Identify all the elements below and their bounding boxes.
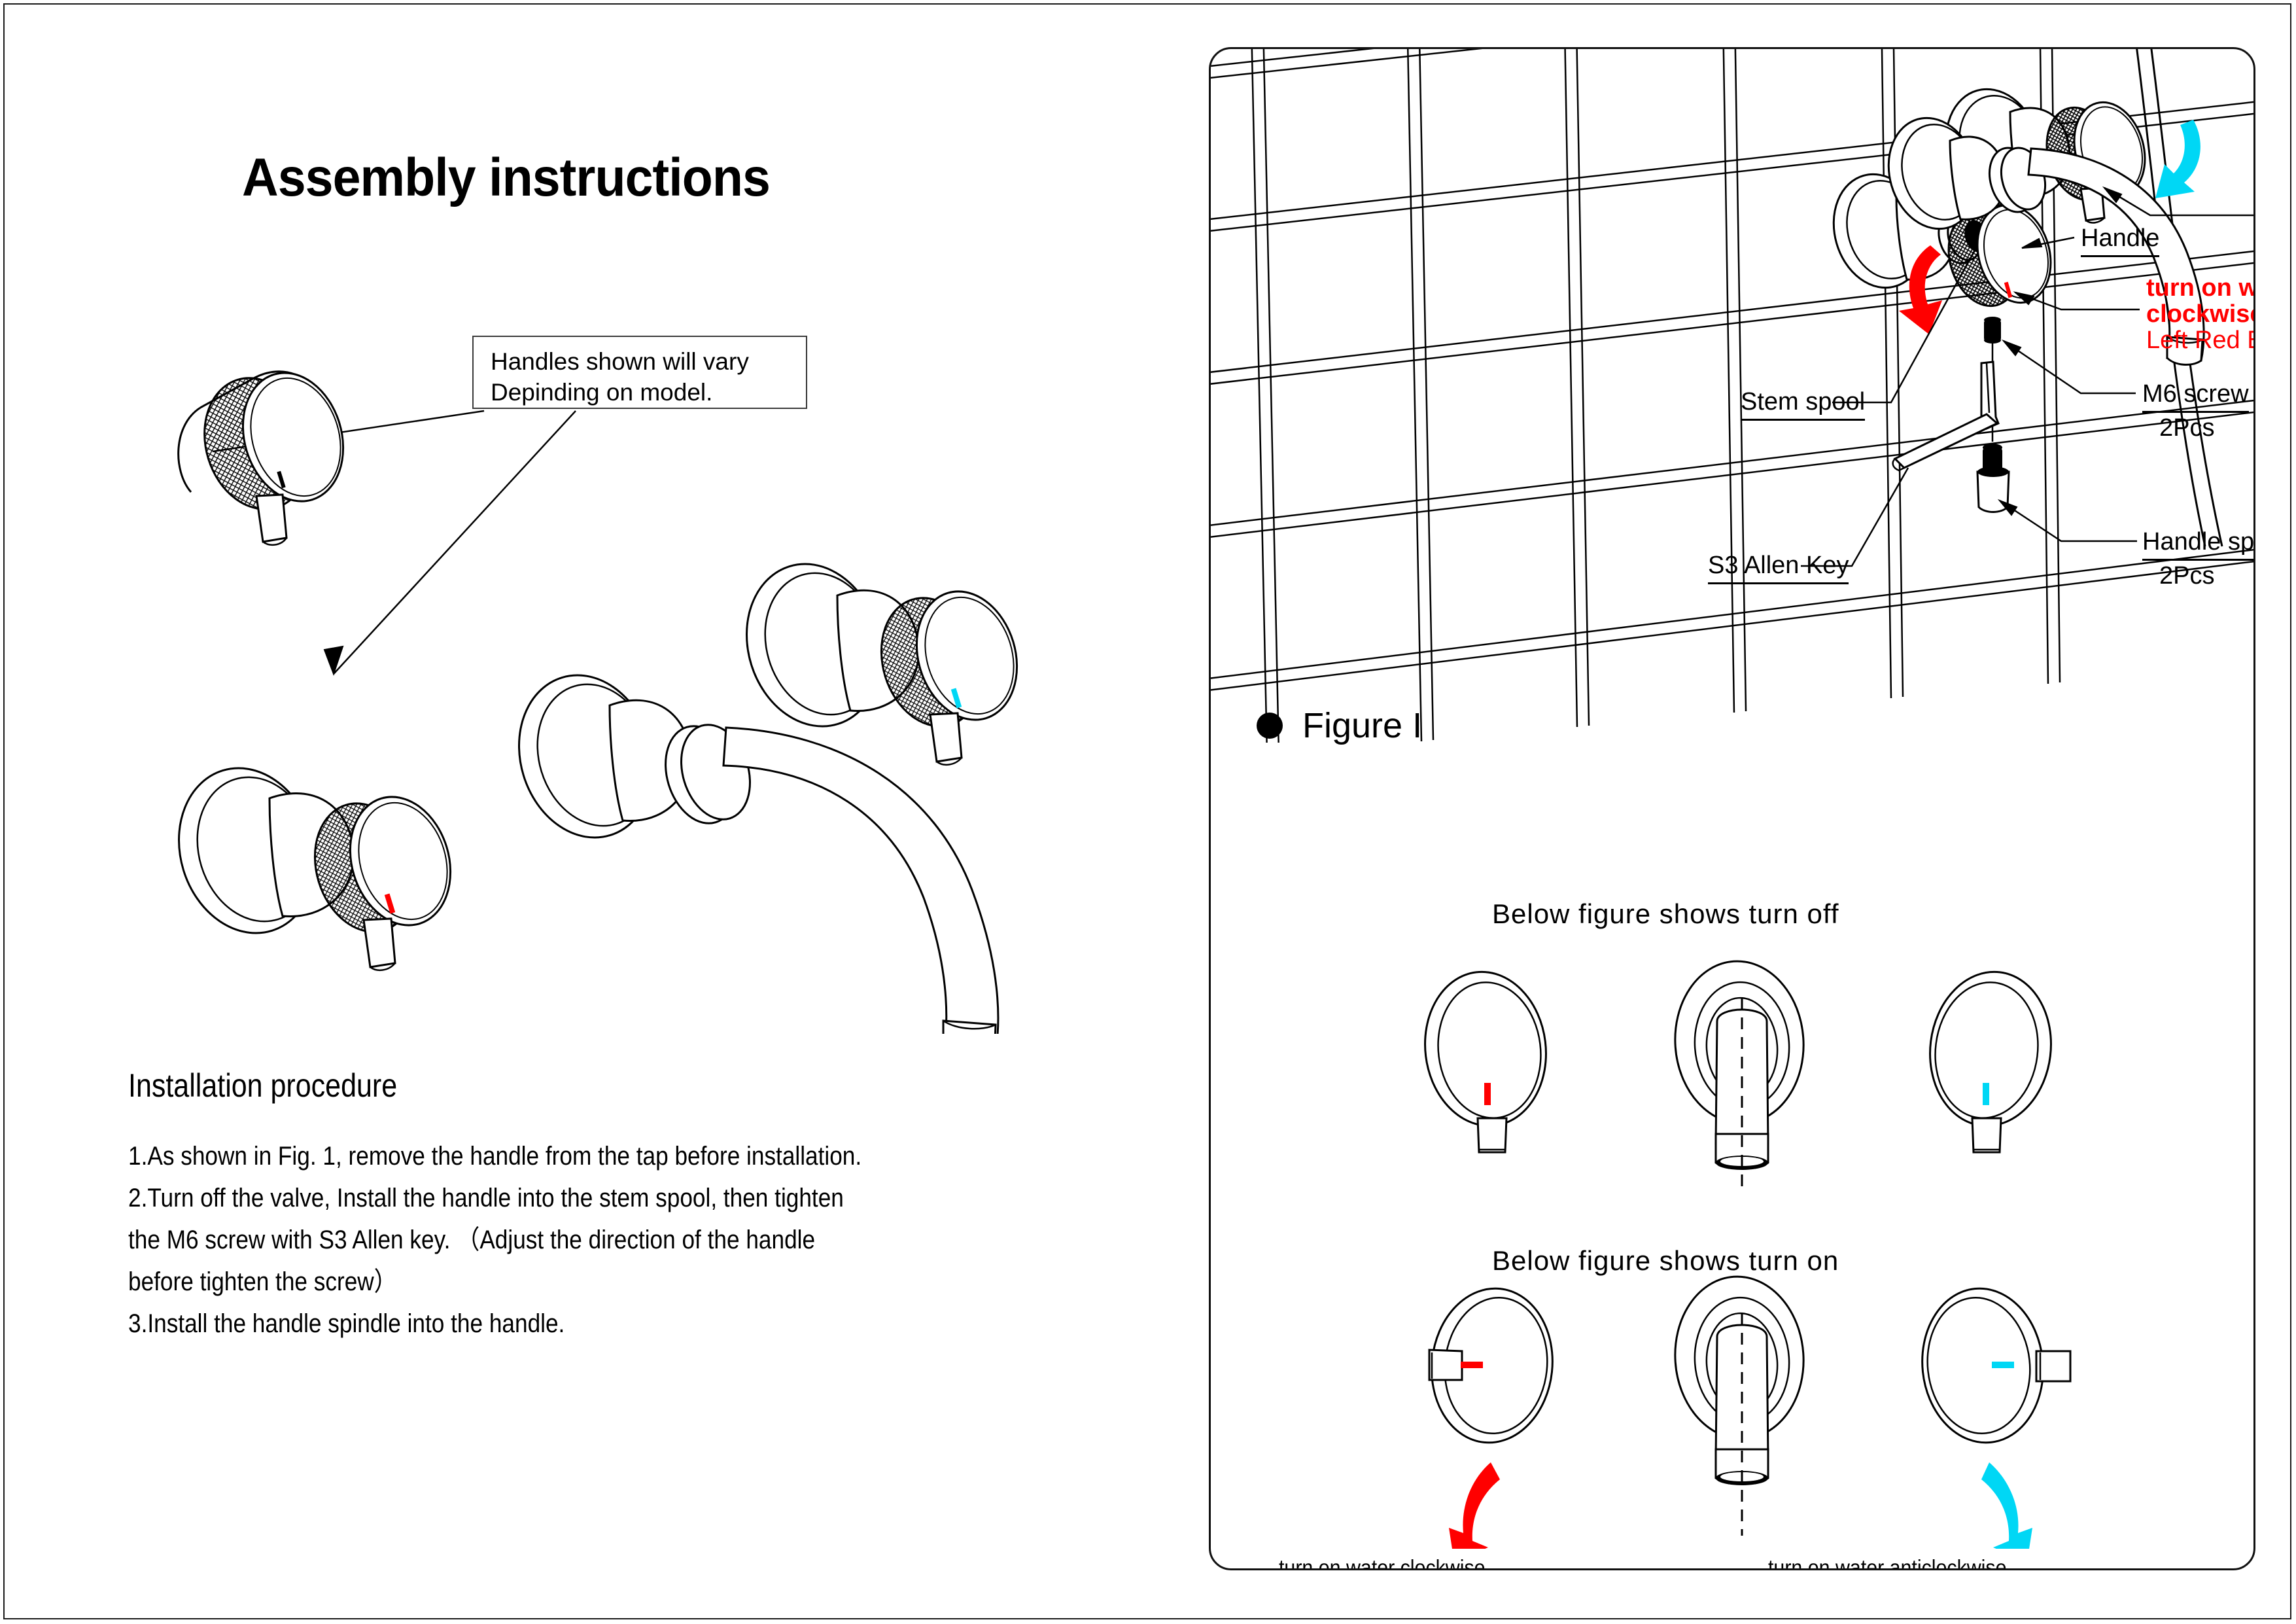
turn-on-right-caption: turn on water anticlockwise [1768,1555,2006,1570]
procedure-step-2c: before tighten the screw） [128,1261,992,1303]
left-valve-assembly [159,751,466,970]
faucet-exploded-illustration [118,366,1073,1034]
procedure-step-2b: the M6 screw with S3 Allen key. （Adjust … [128,1219,992,1261]
label-stem-spool: Stem spool [1741,388,1865,421]
page-title: Assembly instructions [242,147,770,209]
figure-one-scene [1211,49,2255,743]
procedure-step-1: 1.As shown in Fig. 1, remove the handle … [128,1135,992,1177]
m6-screw [1984,317,2001,344]
turn-on-left-arrow [1449,1462,1500,1549]
spout-on-centre [1670,1274,1809,1536]
knob-off-left-badge [1484,1083,1491,1105]
knob-on-left [1424,1282,1560,1449]
knob-on-left-badge [1461,1362,1483,1368]
spout-off-centre [1670,959,1809,1193]
label-handle-spindle: Handle spindle [2142,528,2255,561]
s3-allen-key [1893,362,1998,470]
knob-off-right-badge [1983,1083,1989,1105]
turn-off-heading: Below figure shows turn off [1492,898,1839,930]
turn-on-knobs [1407,1274,2074,1549]
label-turn-on-clockwise-1: turn on water [2146,274,2255,302]
knob-on-right [1915,1282,2070,1449]
knob-off-left [1416,965,1554,1152]
knob-on-right-badge [1992,1362,2014,1368]
figure-caption: Figure I [1257,705,1422,746]
figure-panel: Handle Stem spool S3 Allen Key M6 screw … [1209,47,2255,1570]
label-m6-screw: M6 screw [2142,380,2249,413]
detached-handle [179,366,358,545]
bullet-icon [1257,713,1283,739]
turn-on-heading: Below figure shows turn on [1492,1245,1839,1277]
label-allen-key: S3 Allen Key [1708,552,1849,584]
procedure-step-3: 3.Install the handle spindle into the ha… [128,1303,992,1345]
label-turn-on-clockwise-2: clockwise [2146,300,2255,328]
procedure-step-2: 2.Turn off the valve, Install the handle… [128,1177,992,1219]
turn-on-left-caption: turn on water clockwise [1279,1555,1486,1570]
knob-off-right [1921,965,2059,1152]
figure-caption-text: Figure I [1302,705,1422,746]
installation-procedure-heading: Installation procedure [128,1067,397,1104]
turn-off-knobs [1407,959,2074,1194]
label-handle-spindle-qty: 2Pcs [2159,562,2214,590]
label-m6-screw-qty: 2Pcs [2159,414,2214,442]
installation-procedure-steps: 1.As shown in Fig. 1, remove the handle … [128,1135,1109,1345]
label-handle: Handle [2081,224,2159,257]
turn-on-right-arrow [1981,1462,2032,1549]
label-left-red-badge: Left Red Badge [2146,327,2255,355]
